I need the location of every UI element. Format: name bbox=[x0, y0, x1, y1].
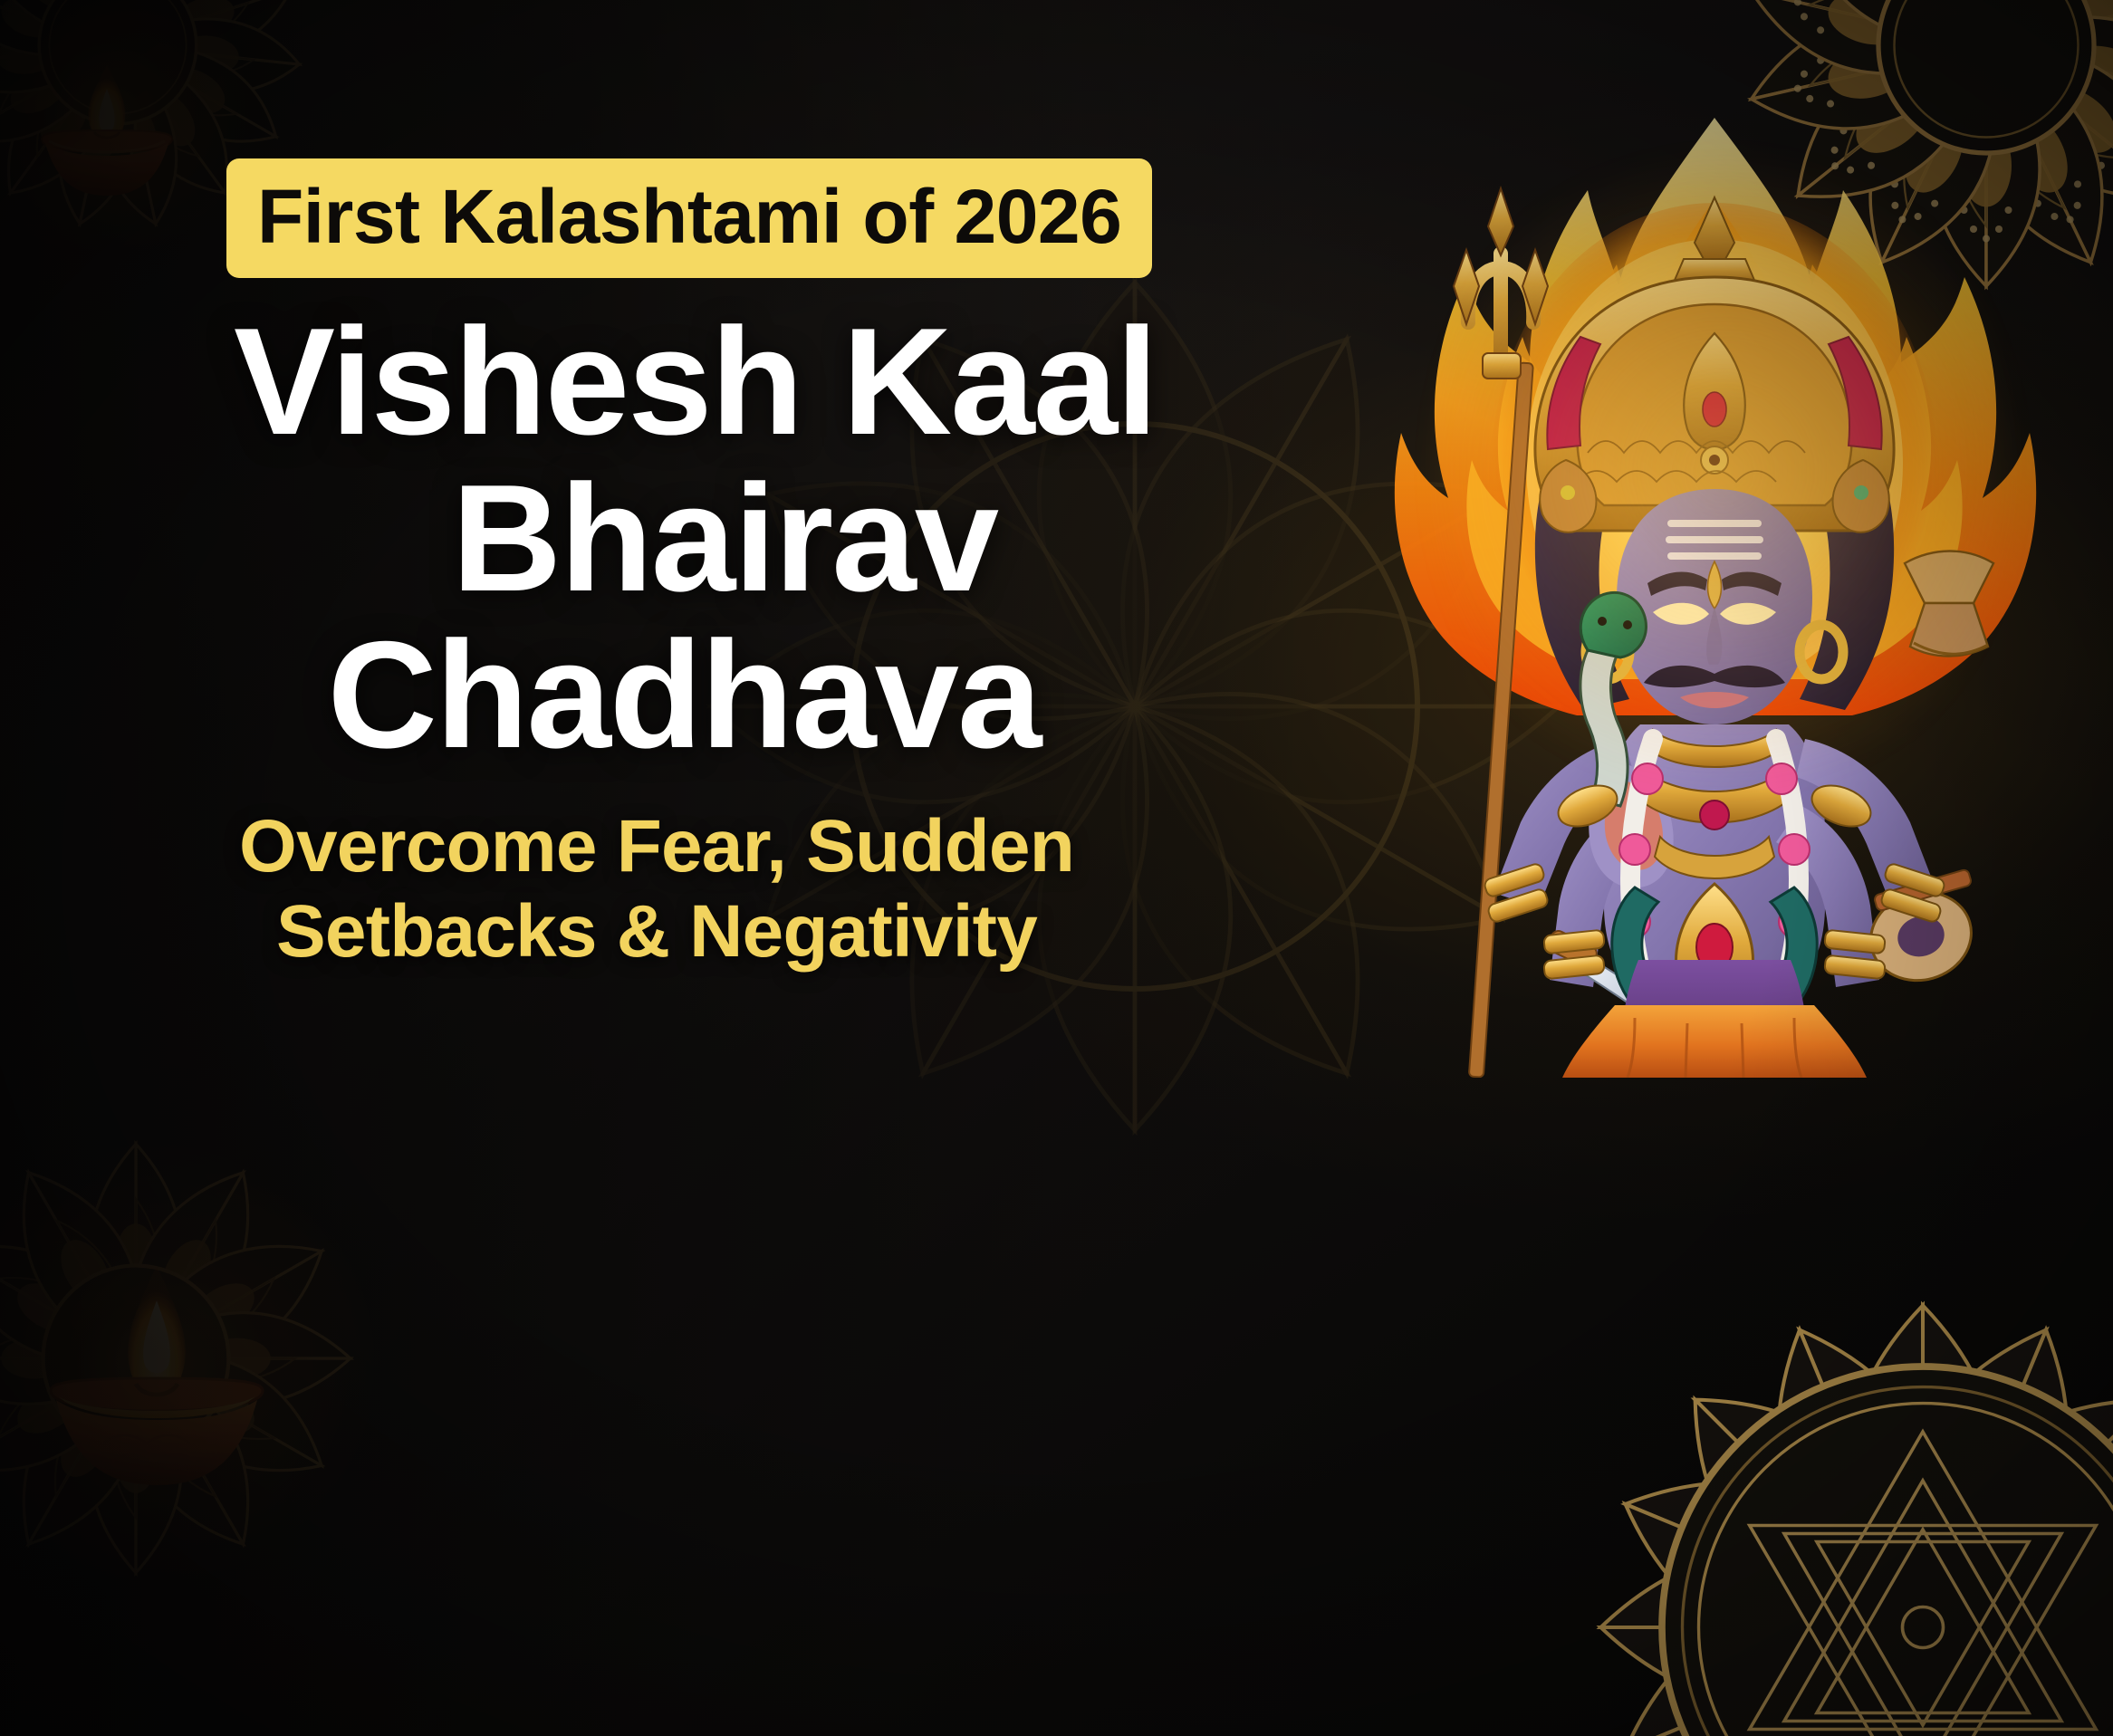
subtitle-line-2: Setbacks & Negativity bbox=[226, 889, 1087, 974]
kaal-bhairav-deity-illustration bbox=[1316, 91, 2113, 1078]
poster-subtitle: Overcome Fear, Sudden Setbacks & Negativ… bbox=[226, 804, 1340, 974]
promotional-poster: First Kalashtami of 2026 Vishesh Kaal Bh… bbox=[0, 0, 2113, 1736]
subtitle-line-1: Overcome Fear, Sudden bbox=[226, 804, 1087, 888]
poster-text-block: First Kalashtami of 2026 Vishesh Kaal Bh… bbox=[226, 158, 1340, 974]
page-title: Vishesh Kaal Bhairav Chadhava bbox=[226, 303, 1340, 773]
headline-line-1: Vishesh Kaal bbox=[226, 303, 1340, 460]
kalashtami-badge: First Kalashtami of 2026 bbox=[226, 158, 1152, 278]
headline-line-3: Chadhava bbox=[226, 617, 1340, 773]
sri-yantra-mandala-bottom-right bbox=[1515, 1220, 2113, 1736]
headline-line-2: Bhairav bbox=[226, 460, 1340, 617]
